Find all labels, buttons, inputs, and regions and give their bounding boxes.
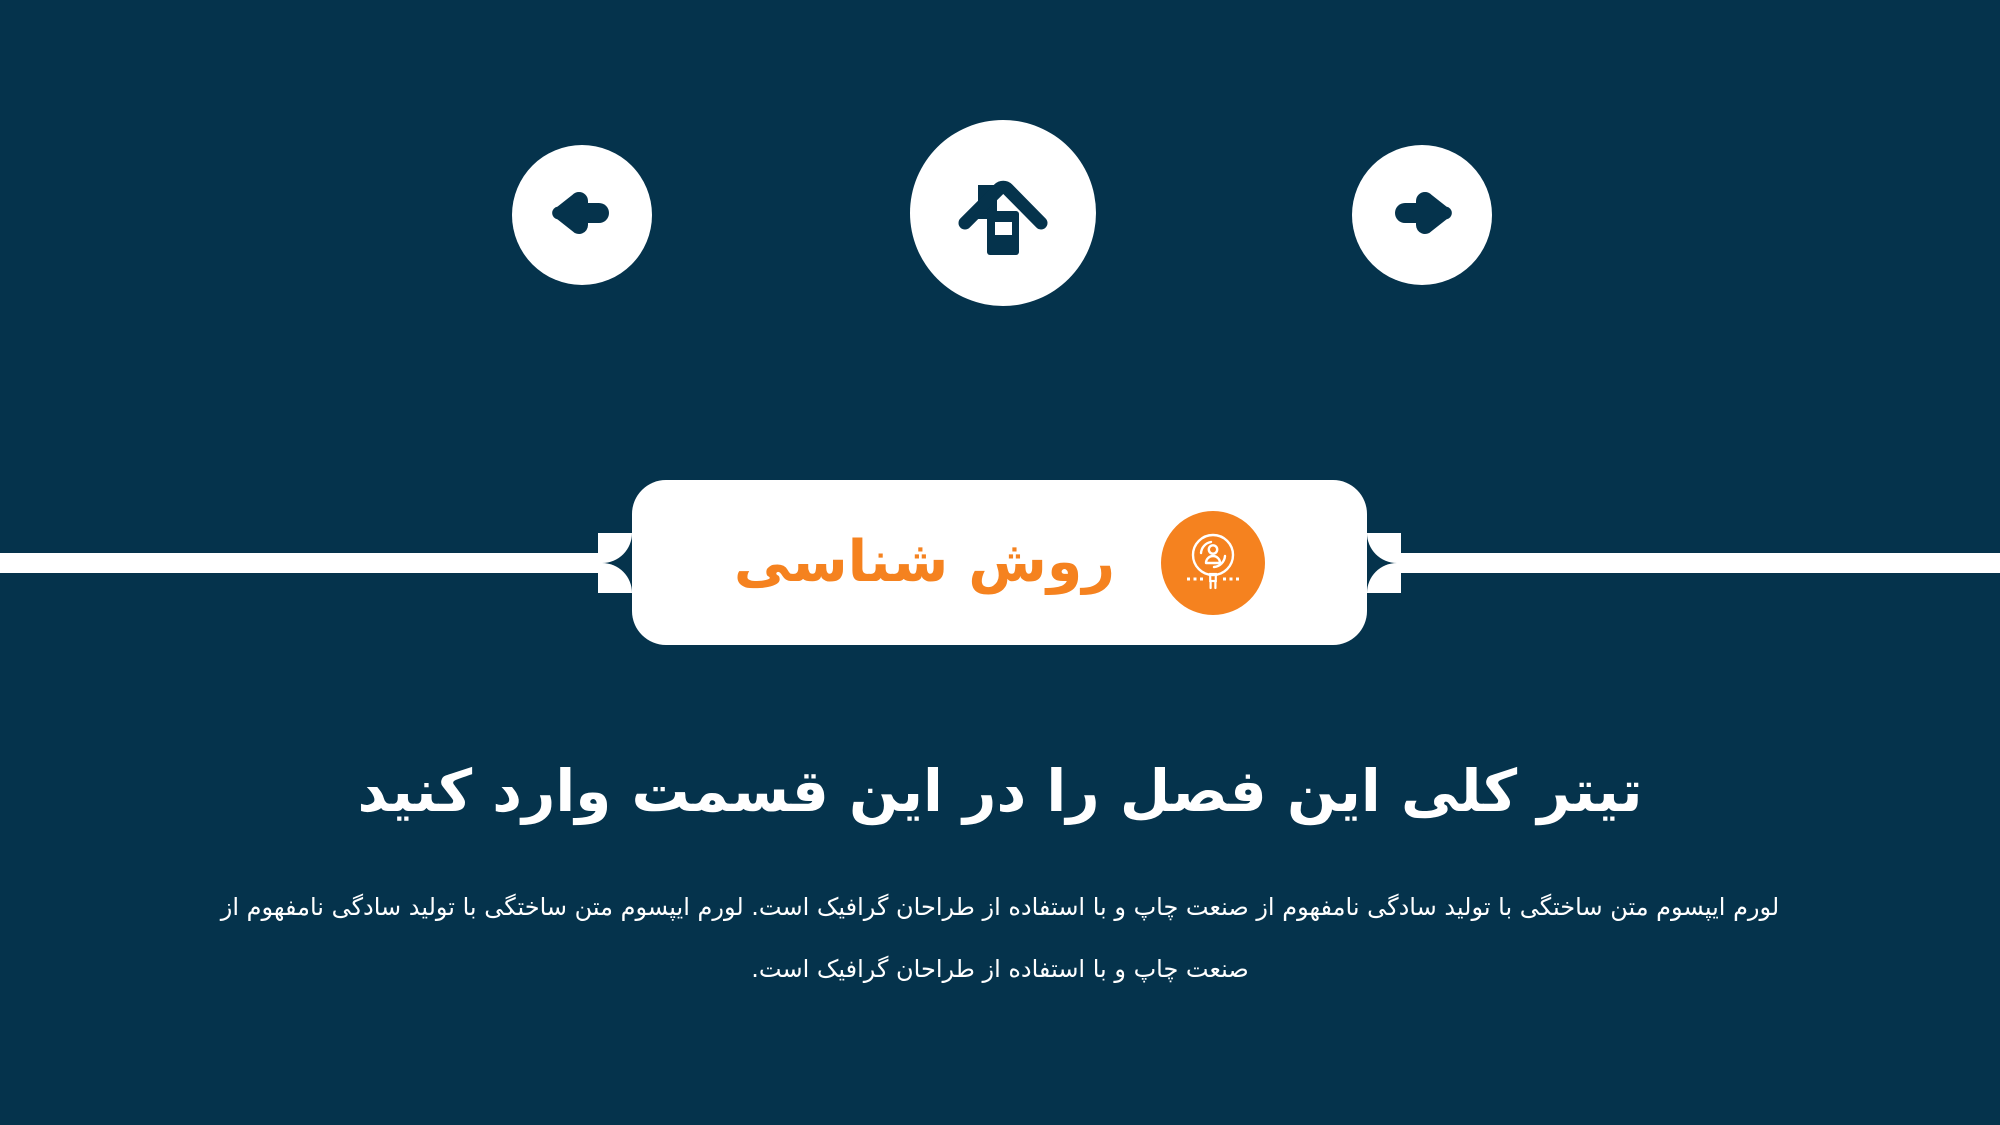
section-title: روش شناسی (734, 534, 1115, 591)
nav-home-button[interactable] (910, 120, 1096, 306)
slide-canvas: روش شناسی تیتر کلی این فصل را در این قسم… (0, 0, 2000, 1125)
body-paragraph: لورم ایپسوم متن ساختگی با تولید سادگی نا… (200, 876, 1800, 1001)
slide-content: تیتر کلی این فصل را در این قسمت وارد کنی… (0, 755, 2000, 1000)
home-icon (951, 161, 1055, 265)
arrow-left-icon (543, 176, 621, 254)
nav-next-button[interactable] (1352, 145, 1492, 285)
nav-prev-button[interactable] (512, 145, 652, 285)
pill-flare-left (598, 533, 632, 593)
section-pill-content: روش شناسی (632, 480, 1367, 645)
arrow-right-icon (1383, 176, 1461, 254)
section-band: روش شناسی (0, 480, 2000, 645)
section-pill[interactable]: روش شناسی (632, 480, 1367, 645)
pill-flare-right (1367, 533, 1401, 593)
page-title: تیتر کلی این فصل را در این قسمت وارد کنی… (0, 755, 2000, 828)
section-badge (1161, 511, 1265, 615)
slide-navigation (0, 0, 2000, 330)
magnifier-person-icon (1177, 525, 1249, 601)
